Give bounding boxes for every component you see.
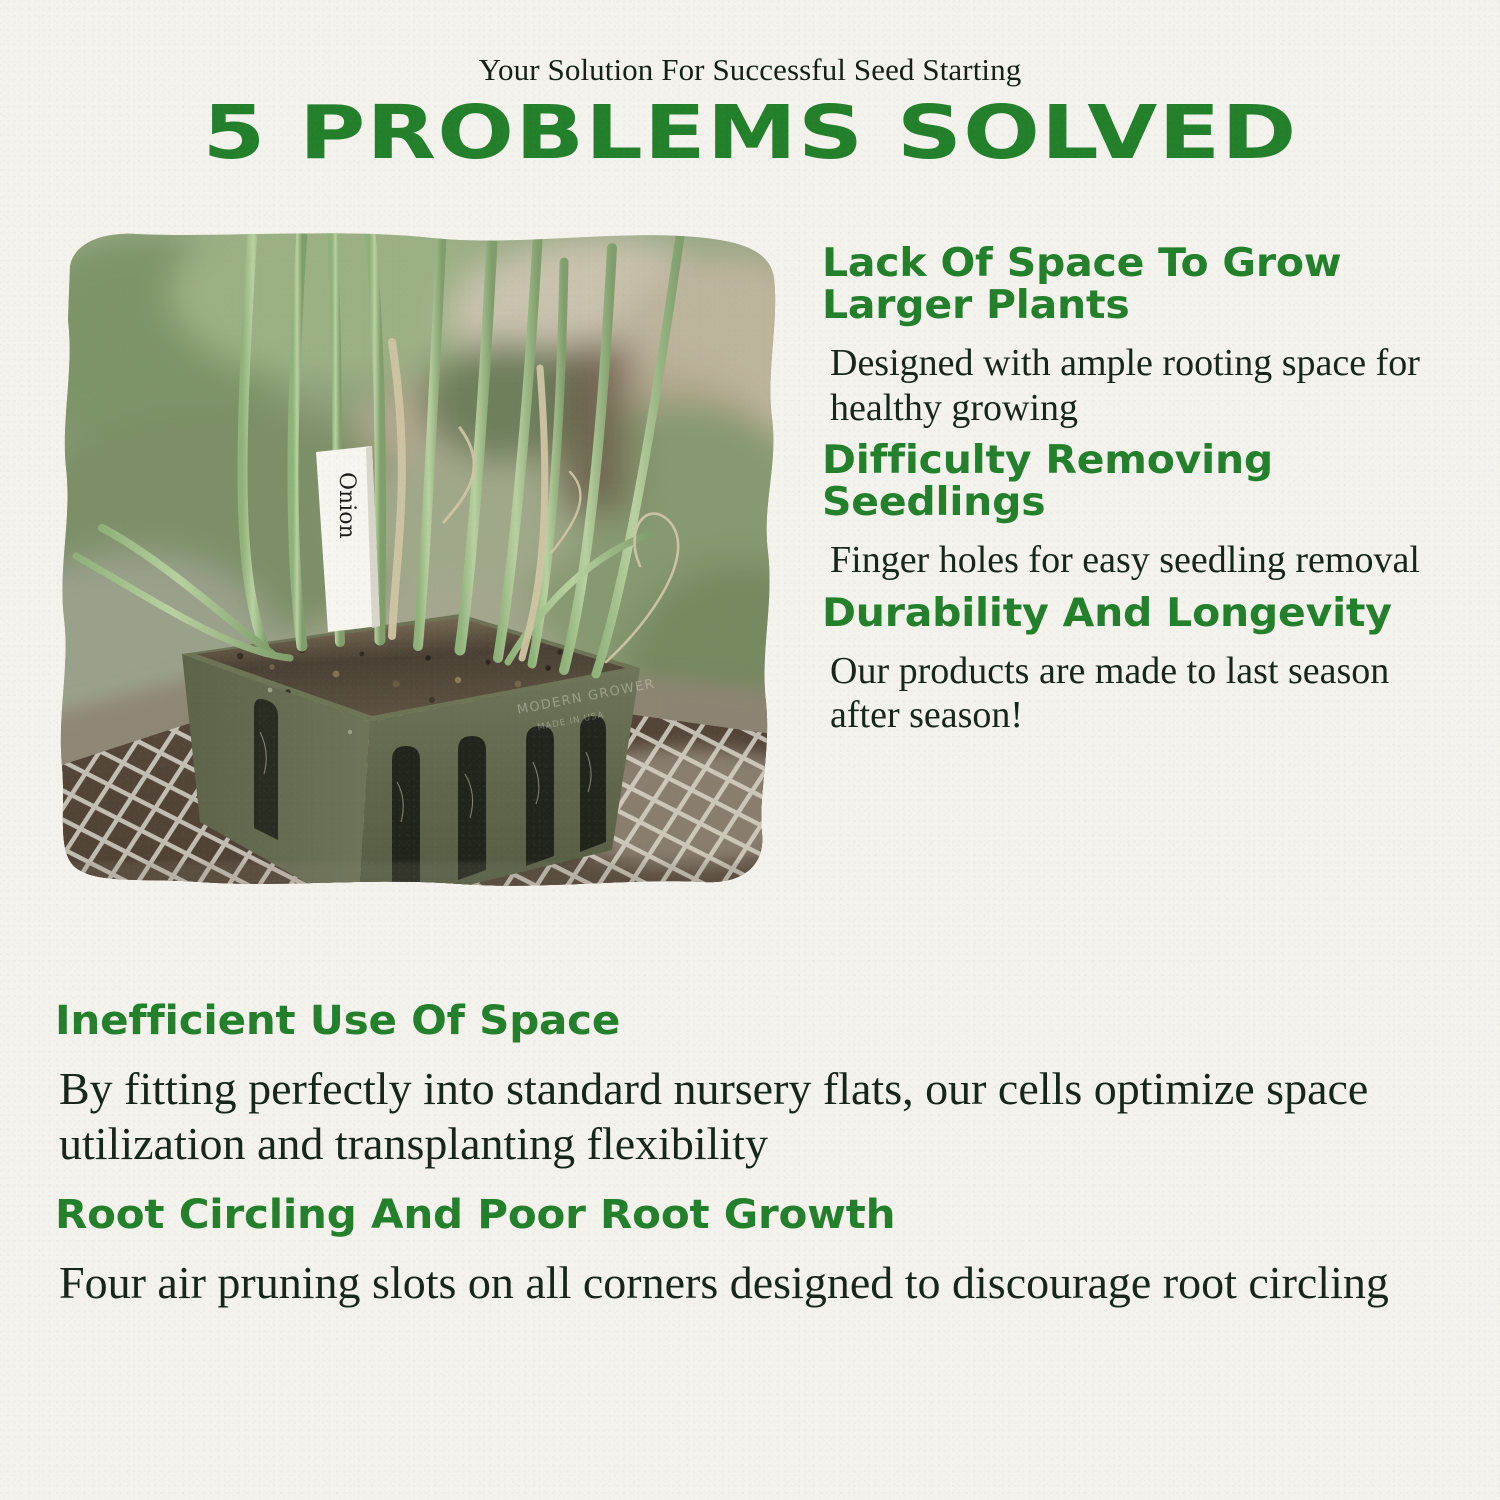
benefit-body-3: Our products are made to last season aft…: [822, 649, 1467, 738]
product-photo: MODERN GROWER MADE IN USA: [40, 222, 800, 900]
benefit-block-5: Root Circling And Poor Root Growth Four …: [55, 1194, 1455, 1310]
benefit-body-2: Finger holes for easy seedling removal: [822, 538, 1467, 582]
benefit-heading-5: Root Circling And Poor Root Growth: [55, 1194, 1500, 1237]
plant-tag-label: Onion: [334, 472, 359, 539]
benefit-block-3: Durability And Longevity Our products ar…: [822, 593, 1467, 738]
page-title: 5 PROBLEMS SOLVED: [0, 96, 1500, 170]
benefit-body-5: Four air pruning slots on all corners de…: [55, 1255, 1455, 1310]
benefit-heading-3: Durability And Longevity: [822, 593, 1499, 635]
benefit-heading-2: Difficulty Removing Seedlings: [822, 440, 1499, 524]
bottom-benefits-column: Inefficient Use Of Space By fitting perf…: [55, 1000, 1455, 1332]
benefit-body-1: Designed with ample rooting space for he…: [822, 341, 1467, 430]
benefit-block-2: Difficulty Removing Seedlings Finger hol…: [822, 440, 1467, 583]
subtitle-text: Your Solution For Successful Seed Starti…: [0, 52, 1500, 88]
product-photo-svg: MODERN GROWER MADE IN USA: [40, 222, 800, 900]
benefit-heading-4: Inefficient Use Of Space: [55, 1000, 1500, 1043]
right-benefits-column: Lack Of Space To Grow Larger Plants Desi…: [822, 243, 1467, 748]
benefit-block-1: Lack Of Space To Grow Larger Plants Desi…: [822, 243, 1467, 430]
benefit-heading-1: Lack Of Space To Grow Larger Plants: [822, 243, 1499, 327]
benefit-block-4: Inefficient Use Of Space By fitting perf…: [55, 1000, 1455, 1172]
photo-content: MODERN GROWER MADE IN USA: [40, 222, 800, 900]
infographic-stage: Your Solution For Successful Seed Starti…: [0, 0, 1500, 1500]
benefit-body-4: By fitting perfectly into standard nurse…: [55, 1061, 1455, 1171]
